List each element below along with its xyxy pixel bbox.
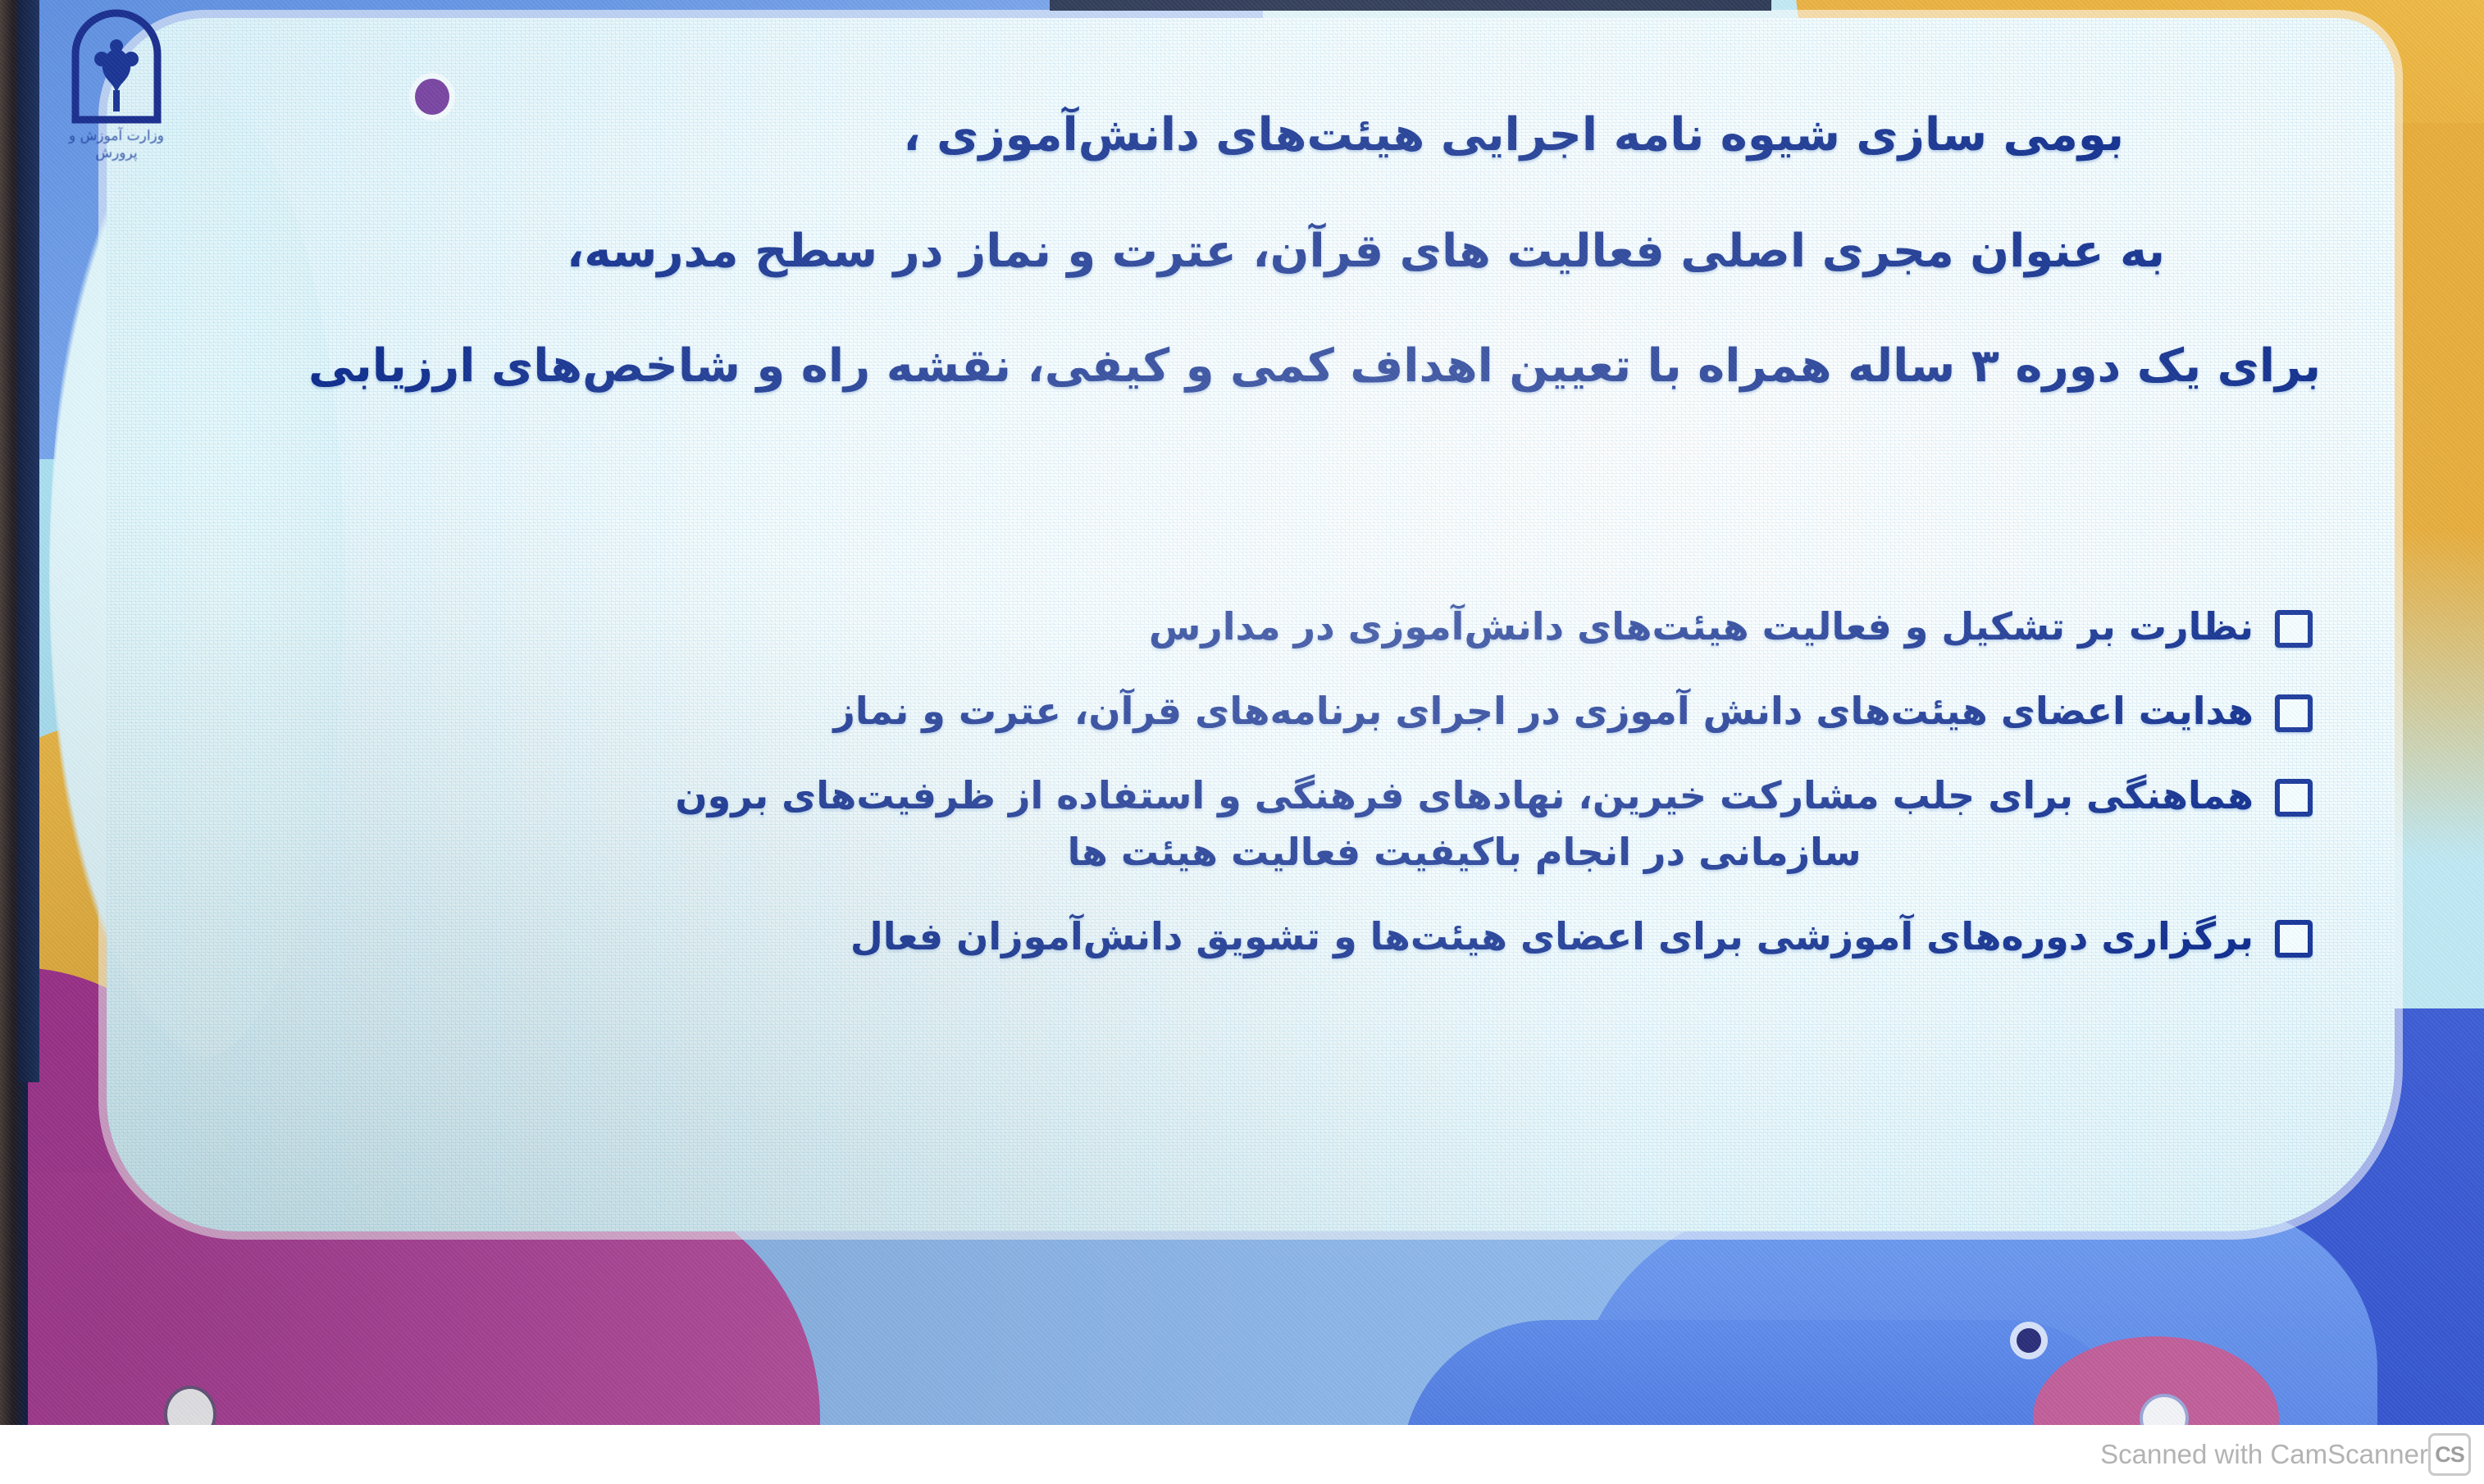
photo-bezel-left-inner [18, 0, 39, 1082]
bullet-text-wrap: هماهنگی برای جلب مشارکت خیرین، نهادهای ف… [675, 767, 2254, 881]
emblem-icon [51, 5, 182, 128]
checkbox-square-icon [2275, 610, 2313, 648]
checkbox-square-icon [2275, 779, 2313, 817]
camscanner-label: Scanned with CamScanner [2100, 1439, 2428, 1470]
bullet-text: برگزاری دوره‌های آموزشی برای اعضای هیئت‌… [850, 908, 2254, 965]
list-item: نظارت بر تشکیل و فعالیت هیئت‌های دانش‌آم… [385, 599, 2313, 655]
list-item: هدایت اعضای هیئت‌های دانش آموزی در اجرای… [385, 683, 2313, 740]
photo-bezel-top [1050, 0, 1771, 11]
checkbox-square-icon [2275, 920, 2313, 958]
bullet-text: هماهنگی برای جلب مشارکت خیرین، نهادهای ف… [675, 773, 2254, 817]
bullet-list: نظارت بر تشکیل و فعالیت هیئت‌های دانش‌آم… [385, 599, 2313, 993]
slide-photo: وزارت آموزش و پرورش بومی سازی شیوه نامه … [0, 0, 2484, 1425]
bullet-text: هدایت اعضای هیئت‌های دانش آموزی در اجرای… [833, 683, 2254, 740]
headline-line-3: برای یک دوره ۳ ساله همراه با تعیین اهداف… [308, 343, 2321, 391]
checkbox-square-icon [2275, 694, 2313, 732]
headline-line-1: بومی سازی شیوه نامه اجرایی هیئت‌های دانش… [903, 112, 2124, 160]
list-item: هماهنگی برای جلب مشارکت خیرین، نهادهای ف… [385, 767, 2313, 881]
headline-line-2: به عنوان مجری اصلی فعالیت های قرآن، عترت… [567, 228, 2165, 276]
ministry-emblem: وزارت آموزش و پرورش [51, 5, 182, 210]
emblem-caption: وزارت آموزش و پرورش [54, 128, 179, 163]
bullet-text: نظارت بر تشکیل و فعالیت هیئت‌های دانش‌آم… [1149, 599, 2254, 655]
camscanner-footer: CS Scanned with CamScanner [0, 1425, 2484, 1484]
slide-text-block: بومی سازی شیوه نامه اجرایی هیئت‌های دانش… [123, 33, 2370, 1213]
bullet-text-continuation: سازمانی در انجام باکیفیت فعالیت هیئت ها [675, 824, 2254, 881]
decor-dot-navy [2017, 1328, 2041, 1353]
list-item: برگزاری دوره‌های آموزشی برای اعضای هیئت‌… [385, 908, 2313, 965]
camscanner-logo-icon: CS [2428, 1433, 2471, 1476]
scanned-slide-page: وزارت آموزش و پرورش بومی سازی شیوه نامه … [0, 0, 2484, 1484]
